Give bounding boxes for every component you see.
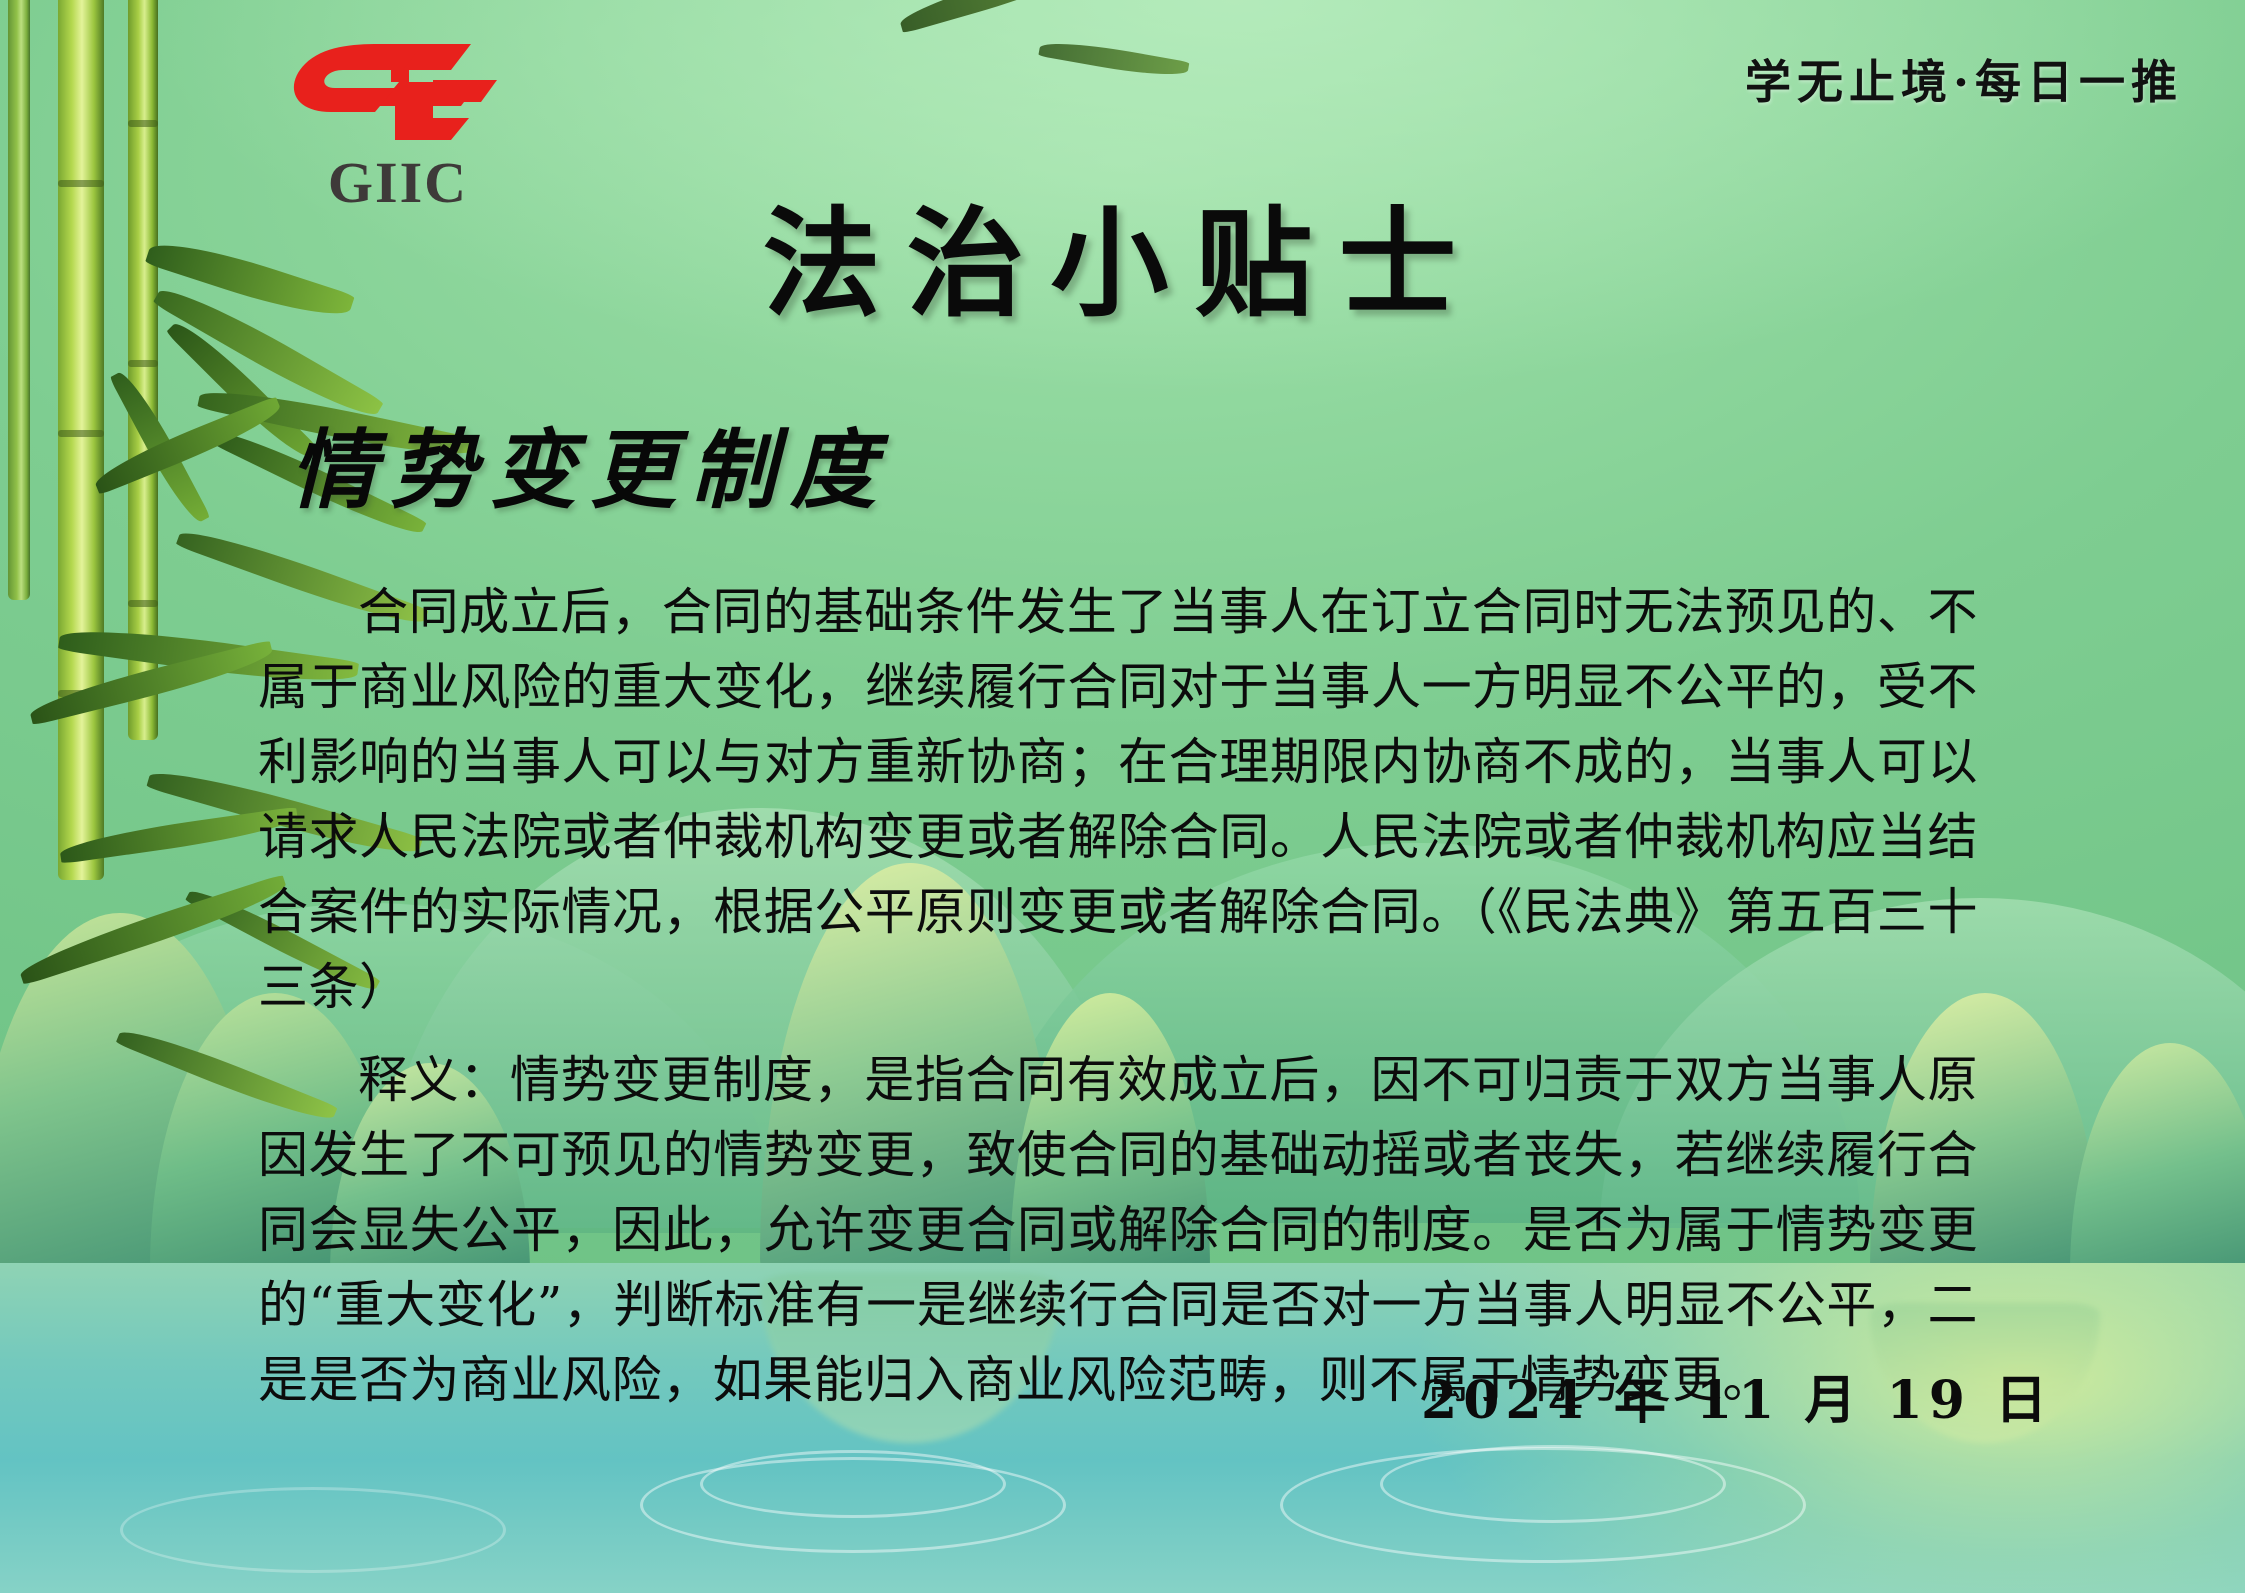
- tagline: 学无止境·每日一推: [1745, 46, 2183, 112]
- giic-logo-mark: [283, 40, 513, 145]
- section-subtitle: 情势变更制度: [290, 400, 890, 525]
- paragraph-statute: 合同成立后，合同的基础条件发生了当事人在订立合同时无法预见的、不属于商业风险的重…: [258, 575, 1978, 1025]
- water-ripple: [700, 1450, 1006, 1518]
- water-ripple: [1380, 1445, 1726, 1523]
- poster-canvas: GIIC 学无止境·每日一推 法治小贴士 情势变更制度 合同成立后，合同的基础条…: [0, 0, 2245, 1593]
- bamboo-culm: [58, 0, 104, 880]
- article-body: 合同成立后，合同的基础条件发生了当事人在订立合同时无法预见的、不属于商业风险的重…: [258, 575, 1978, 1436]
- page-title: 法治小贴士: [0, 168, 2245, 339]
- bamboo-culm: [128, 0, 158, 740]
- publish-date: 2024 年 11 月 19 日: [1421, 1358, 2053, 1433]
